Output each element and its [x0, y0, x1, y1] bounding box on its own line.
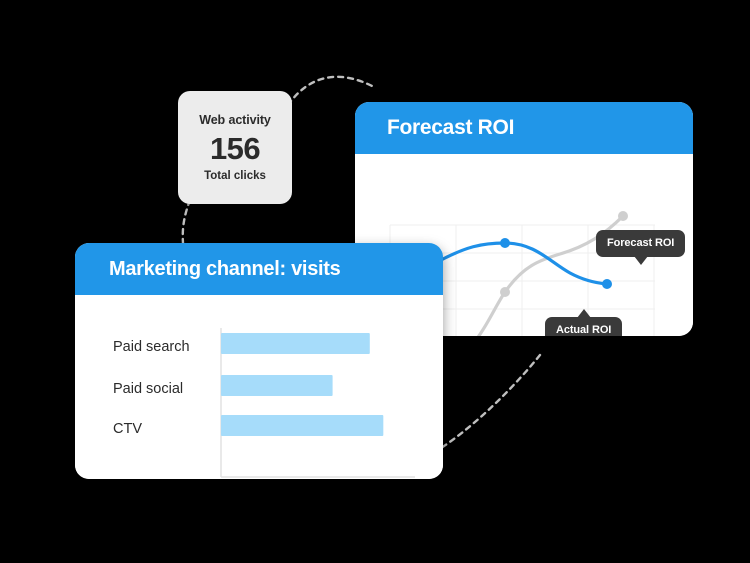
tooltip-forecast-roi-label: Forecast ROI	[607, 237, 674, 249]
bar-paid-social	[221, 375, 333, 396]
forecast-roi-header: Forecast ROI	[355, 102, 693, 154]
tooltip-arrow-up-icon	[577, 309, 591, 318]
diagram-canvas: Web activity 156 Total clicks Forecast R…	[0, 0, 750, 563]
bar-label-2: CTV	[113, 421, 142, 437]
tooltip-forecast-roi[interactable]: Forecast ROI	[596, 230, 685, 257]
tooltip-arrow-down-icon	[634, 256, 648, 265]
web-activity-title: Web activity	[199, 113, 271, 127]
connector-webactivity-to-marketing	[183, 200, 190, 243]
connector-forecast-to-marketing	[435, 355, 540, 452]
web-activity-card[interactable]: Web activity 156 Total clicks	[178, 91, 292, 204]
marketing-channel-title: Marketing channel: visits	[109, 258, 340, 281]
bar-label-0: Paid search	[113, 339, 190, 355]
bar-paid-search	[221, 333, 370, 354]
marketing-channel-body: Paid search Paid social CTV 010203040150	[75, 295, 443, 479]
tooltip-actual-roi[interactable]: Actual ROI	[545, 317, 622, 336]
connector-webactivity-to-forecast	[288, 77, 372, 105]
tooltip-actual-roi-label: Actual ROI	[556, 324, 611, 336]
marketing-channel-header: Marketing channel: visits	[75, 243, 443, 295]
marketing-channel-card[interactable]: Marketing channel: visits Paid search Pa…	[75, 243, 443, 479]
bar-category-labels: Paid search Paid social CTV	[113, 339, 190, 437]
bar-label-1: Paid social	[113, 381, 183, 397]
web-activity-value: 156	[210, 133, 260, 166]
bar-series	[221, 333, 383, 436]
web-activity-subtitle: Total clicks	[204, 170, 266, 182]
forecast-roi-title: Forecast ROI	[387, 116, 514, 140]
bar-ctv	[221, 415, 383, 436]
marketing-channel-bar-chart[interactable]: Paid search Paid social CTV 010203040150	[75, 295, 443, 479]
